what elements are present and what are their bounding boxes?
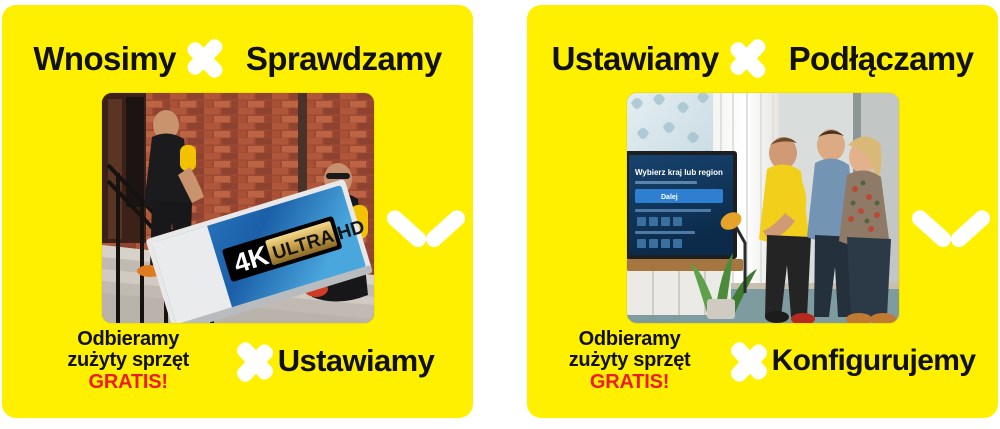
- chevron-left-icon: [224, 327, 270, 395]
- step-label-wnosimy: Wnosimy: [33, 42, 175, 75]
- recycling-note-line-1: Odbieramy: [41, 329, 216, 351]
- panel-1-footer-row: Odbieramy zużyty sprzęt GRATIS! Ustawiam…: [2, 322, 473, 400]
- chevron-right-icon: [733, 25, 775, 91]
- step-label-ustawiamy-header: Ustawiamy: [552, 42, 719, 75]
- recycling-note-line-2: zużyty sprzęt: [550, 350, 710, 372]
- svg-text:Wybierz kraj lub region: Wybierz kraj lub region: [635, 168, 723, 177]
- step-label-konfigurujemy: Konfigurujemy: [772, 344, 976, 378]
- chevron-down-icon: [914, 197, 988, 245]
- panel-2-footer-row: Odbieramy zużyty sprzęt GRATIS! Konfigur…: [527, 322, 998, 400]
- service-panel-1: Wnosimy Sprawdzamy: [2, 5, 473, 418]
- step-label-sprawdzamy: Sprawdzamy: [246, 42, 442, 75]
- svg-text:Dalej: Dalej: [661, 194, 678, 201]
- recycling-free-badge: GRATIS!: [550, 372, 710, 394]
- recycling-note-line-1: Odbieramy: [550, 329, 710, 351]
- recycling-note: Odbieramy zużyty sprzęt GRATIS!: [550, 329, 710, 394]
- service-panel-2: Ustawiamy Podłączamy: [527, 5, 998, 418]
- recycling-free-badge: GRATIS!: [41, 372, 216, 394]
- chevron-right-icon: [190, 25, 232, 91]
- photo-installing-tv: Wybierz kraj lub region Dalej: [627, 93, 899, 323]
- chevron-left-icon: [718, 327, 764, 395]
- photo-carrying-tv: 4K ULTRA HD: [102, 93, 374, 323]
- panel-2-header-row: Ustawiamy Podłączamy: [527, 27, 998, 89]
- step-label-podlaczamy: Podłączamy: [789, 42, 974, 75]
- panel-1-header-row: Wnosimy Sprawdzamy: [2, 27, 473, 89]
- step-label-ustawiamy: Ustawiamy: [278, 343, 435, 379]
- recycling-note-line-2: zużyty sprzęt: [41, 350, 216, 372]
- chevron-down-icon: [389, 197, 463, 245]
- service-steps-infographic: Wnosimy Sprawdzamy: [0, 0, 1000, 429]
- recycling-note: Odbieramy zużyty sprzęt GRATIS!: [41, 329, 216, 394]
